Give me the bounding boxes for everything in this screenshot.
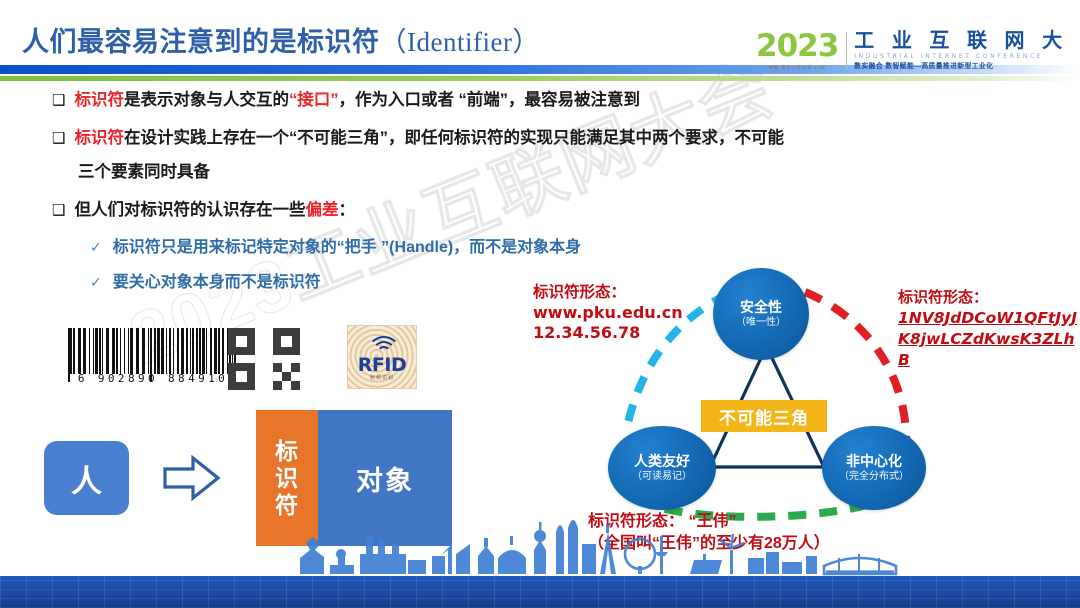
header-bar-green	[0, 76, 1080, 81]
logo-name-en: INDUSTRIAL INTERNET CONFERENCE	[854, 52, 1080, 62]
logo-year: 2023	[756, 31, 838, 62]
logo-name-cn: 工 业 互 联 网 大 会	[854, 31, 1080, 52]
triangle-node-security[interactable]: 安全性 （唯一性）	[713, 268, 809, 360]
annotation-right: 标识符形态： 1NV8JdDCoW1QFtJyJK8jwLCZdKwsK3ZLh…	[898, 288, 1078, 371]
logo-slogan: 数实融合 数智赋能—高质量推进新型工业化	[854, 62, 1080, 71]
annotation-left-title: 标识符形态：	[533, 283, 683, 303]
logo-divider	[846, 32, 847, 70]
annotation-left-url: www.pku.edu.cn	[533, 303, 683, 323]
arrow-right-icon	[163, 455, 221, 501]
check-icon: ✓	[90, 271, 102, 295]
triangle-node-decentralized[interactable]: 非中心化 （完全分布式）	[822, 426, 926, 510]
bullet-text-1: 标识符是表示对象与人交互的“接口”，作为入口或者 “前端”，最容易被注意到	[74, 88, 640, 113]
node-security-name: 安全性	[740, 299, 782, 316]
bullet-text-3: 但人们对标识符的认识存在一些偏差：	[74, 198, 355, 223]
bullet-2-continuation: 三个要素同时具备	[78, 160, 1012, 185]
qr-code-icon	[228, 328, 300, 390]
page-title-cn: 人们最容易注意到的是标识符	[22, 27, 380, 57]
bullet-square-icon: ❑	[52, 88, 65, 113]
subbullet-item-1: ✓ 标识符只是用来标记特定对象的“把手 ”(Handle)，而不是对象本身	[90, 236, 1012, 260]
rfid-tag-image: RFID 射频识别	[347, 325, 417, 389]
skyline-graphic	[0, 510, 1080, 580]
rfid-label: RFID	[348, 354, 416, 376]
annotation-left-ip: 12.34.56.78	[533, 323, 683, 343]
person-box: 人	[44, 441, 129, 515]
bullet-square-icon: ❑	[52, 198, 65, 223]
bullet-1-seg-0: 标识符	[74, 91, 124, 109]
bullet-3-seg-0: 但人们对标识符的认识存在一些	[74, 201, 305, 219]
bullet-item-3: ❑ 但人们对标识符的认识存在一些偏差：	[52, 198, 1012, 223]
node-human-name: 人类友好	[634, 453, 690, 470]
bullet-3-seg-2: ：	[338, 201, 355, 219]
annotation-right-hash: 1NV8JdDCoW1QFtJyJK8jwLCZdKwsK3ZLhB	[898, 308, 1078, 371]
barcode-number: 6 902890 884910	[68, 372, 238, 385]
bullet-item-2: ❑ 标识符在设计实践上存在一个“不可能三角”，即任何标识符的实现只能满足其中两个…	[52, 126, 1012, 151]
triangle-center-label: 不可能三角	[701, 400, 827, 432]
node-security-sub: （唯一性）	[736, 316, 786, 330]
bullet-square-icon: ❑	[52, 126, 65, 151]
conference-logo: 2023 中国·南京 5月11日-13日 工 业 互 联 网 大 会 INDUS…	[756, 31, 1080, 73]
bullet-1-seg-3: ，作为入口或者 “前端”，最容易被注意到	[338, 91, 640, 109]
footer-band	[0, 576, 1080, 608]
barcode-image: 6 902890 884910	[68, 328, 238, 386]
node-human-sub: （可读易记）	[632, 470, 692, 484]
bullet-1-seg-1: 是表示对象与人交互的	[124, 91, 289, 109]
bullet-2-seg-0: 标识符	[74, 129, 124, 147]
bullet-1-seg-2: “接口”	[289, 91, 339, 109]
barcode-bars	[68, 328, 238, 374]
rfid-sub-label: 射频识别	[348, 374, 416, 381]
logo-year-sub: 中国·南京 5月11日-13日	[756, 64, 838, 71]
rfid-wave-icon	[367, 336, 401, 356]
page-title-en: （Identifier）	[380, 27, 540, 57]
bullet-3-seg-1: 偏差	[305, 201, 338, 219]
bullet-item-1: ❑ 标识符是表示对象与人交互的“接口”，作为入口或者 “前端”，最容易被注意到	[52, 88, 1012, 113]
bullet-2-seg-1: 在设计实践上存在一个“不可能三角”，即任何标识符的实现只能满足其中两个要求，不可…	[124, 129, 784, 147]
footer	[0, 548, 1080, 608]
triangle-node-human-friendly[interactable]: 人类友好 （可读易记）	[608, 426, 716, 510]
subbullet-text-1: 标识符只是用来标记特定对象的“把手 ”(Handle)，而不是对象本身	[113, 236, 581, 260]
node-decentralized-name: 非中心化	[846, 453, 902, 470]
annotation-right-title: 标识符形态：	[898, 288, 1078, 308]
bullet-text-2: 标识符在设计实践上存在一个“不可能三角”，即任何标识符的实现只能满足其中两个要求…	[74, 126, 784, 151]
check-icon: ✓	[90, 236, 102, 260]
page-title: 人们最容易注意到的是标识符（Identifier）	[22, 20, 540, 59]
annotation-left: 标识符形态： www.pku.edu.cn 12.34.56.78	[533, 283, 683, 343]
node-decentralized-sub: （完全分布式）	[839, 470, 909, 484]
subbullet-text-2: 要关心对象本身而不是标识符	[113, 271, 321, 295]
slide-root: 2023工业互联网大会 人们最容易注意到的是标识符（Identifier） 20…	[0, 0, 1080, 608]
